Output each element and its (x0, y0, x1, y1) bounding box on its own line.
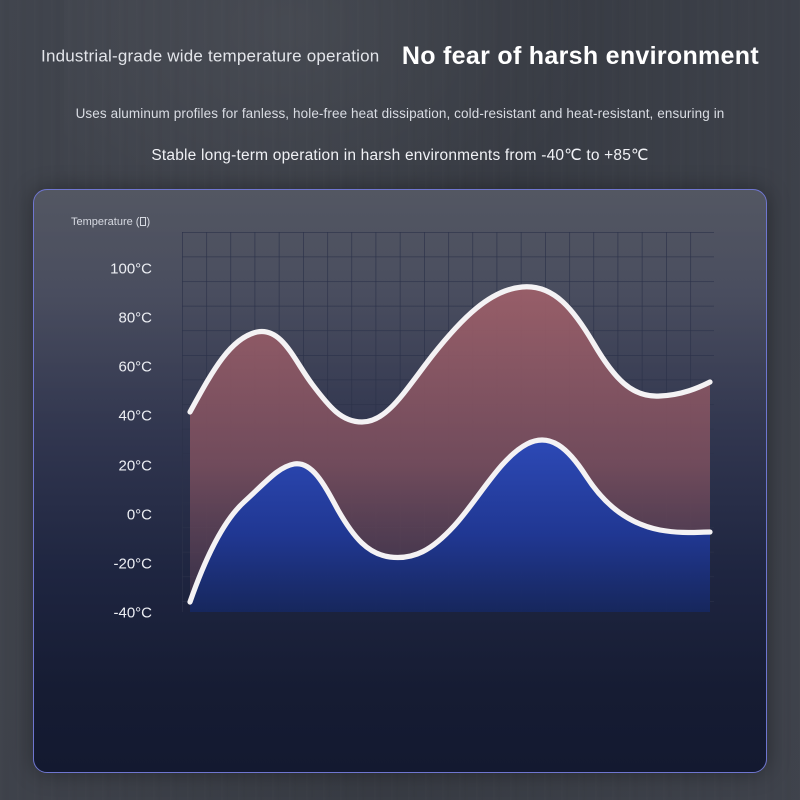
y-axis-tick-label: 80°C (118, 310, 152, 327)
x-axis-title: Time (H) (720, 772, 748, 773)
x-axis-title-line1: Time (720, 772, 748, 773)
y-axis-title-suffix: ) (146, 216, 150, 228)
description-line-1: Uses aluminum profiles for fanless, hole… (0, 106, 800, 121)
y-axis-tick-label: 0°C (127, 506, 152, 523)
y-axis-tick-label: -40°C (113, 605, 152, 622)
title-row: Industrial-grade wide temperature operat… (0, 42, 800, 71)
y-axis-title-prefix: Temperature ( (71, 216, 139, 228)
y-axis-tick-label: 40°C (118, 408, 152, 425)
chart-panel: Temperature () 100°C80°C60°C40°C20°C0°C-… (33, 189, 767, 773)
y-axis-tick-label: 20°C (118, 457, 152, 474)
y-axis-tick-label: -20°C (113, 555, 152, 572)
y-axis-title: Temperature () (71, 216, 150, 228)
plot-area (182, 232, 714, 612)
page-title: No fear of harsh environment (402, 42, 759, 70)
y-axis-tick-label: 100°C (110, 261, 152, 278)
y-axis-tick-label: 60°C (118, 359, 152, 376)
chart-svg (182, 232, 714, 612)
description-line-2: Stable long-term operation in harsh envi… (0, 146, 800, 165)
page-subtitle: Industrial-grade wide temperature operat… (41, 47, 379, 66)
